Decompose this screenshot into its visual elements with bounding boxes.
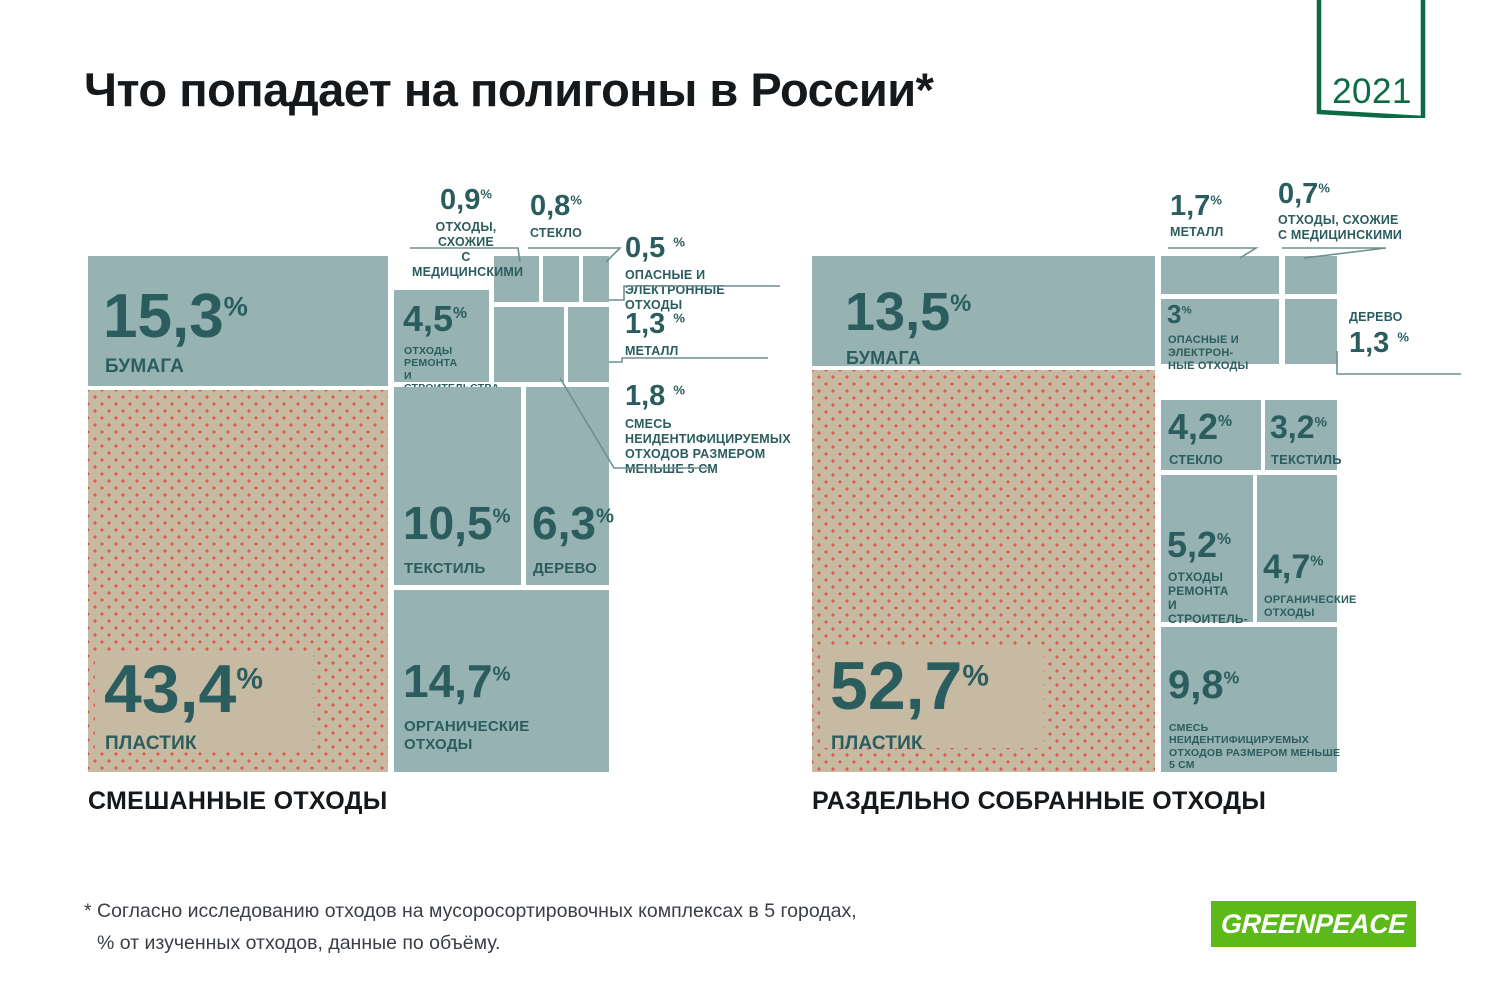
leader-line-metal-2 [1168,238,1268,260]
treemap-value-construction-2: 5,2% [1167,528,1231,561]
callout-glass: 0,8% СТЕКЛО [530,192,582,241]
callout-value-metal-2: 1,7% [1170,192,1224,221]
treemap-value-plastic-2: 52,7% [830,655,989,718]
treemap-value-paper-2: 13,5% [845,288,971,338]
treemap-value-paper: 15,3% [103,288,248,345]
treemap-value-small-mix-2: 9,8% [1168,667,1239,704]
treemap-value-textile-2: 3,2% [1270,413,1327,442]
treemap-label-glass-2: СТЕКЛО [1169,452,1223,467]
treemap-value-organic: 14,7% [403,660,511,702]
treemap-block-wood-2[interactable] [1285,299,1337,364]
callout-value-medical-like-2: 0,7% [1278,180,1402,209]
leader-line-medical-like-2 [1282,238,1392,260]
treemap-label-textile: ТЕКСТИЛЬ [404,560,485,578]
greenpeace-logo[interactable]: GREENPEACE [1211,901,1416,947]
treemap-block-small-mix[interactable] [494,307,564,382]
treemap-value-organic-2: 4,7% [1263,552,1324,583]
treemap-value-construction: 4,5% [403,302,467,335]
greenpeace-logo-text: GREENPEACE [1210,901,1417,947]
callout-metal-2: 1,7% МЕТАЛЛ [1170,192,1224,240]
treemap-label-hazardous-2: ОПАСНЫЕ И ЭЛЕКТРОН- НЫЕ ОТХОДЫ [1168,334,1283,373]
treemap-block-textile[interactable] [394,387,521,585]
footnote-line-1: * Согласно исследованию отходов на мусор… [84,900,857,922]
callout-label-wood-2: ДЕРЕВО [1349,310,1409,325]
page-title: Что попадает на полигоны в России* [84,62,933,117]
callout-value-medical-like: 0,9% [412,186,520,215]
treemap-label-organic: ОРГАНИЧЕСКИЕ ОТХОДЫ [404,718,604,753]
year-label: 2021 [1326,72,1418,112]
treemap-value-plastic: 43,4% [104,658,263,721]
callout-value-hazardous: 0,5 % [625,234,795,263]
treemap-block-metal-2[interactable] [1161,256,1279,294]
leader-line-glass [528,238,628,264]
leader-line-metal [608,344,778,366]
treemap-value-textile: 10,5% [403,502,511,544]
treemap-value-glass-2: 4,2% [1168,410,1232,443]
treemap-block-metal[interactable] [568,307,609,382]
callout-value-glass: 0,8% [530,192,582,221]
treemap-label-plastic: ПЛАСТИК [105,733,197,755]
footnote-line-2: % от изученных отходов, данные по объёму… [84,928,984,960]
treemap-label-textile-2: ТЕКСТИЛЬ [1271,452,1342,467]
treemap-label-paper-2: БУМАГА [846,348,921,369]
footnote: * Согласно исследованию отходов на мусор… [84,896,984,959]
chart-caption-mixed: СМЕШАННЫЕ ОТХОДЫ [88,787,388,816]
leader-line-wood-2 [1336,350,1466,378]
treemap-label-small-mix-2: СМЕСЬ НЕИДЕНТИФИЦИРУЕМЫХ ОТХОДОВ РАЗМЕРО… [1169,722,1341,772]
callout-value-metal: 1,3 % [625,310,685,339]
treemap-value-wood: 6,3% [532,502,614,544]
leader-line-hazardous [608,284,788,306]
leader-line-medical-like [410,238,530,264]
treemap-label-paper: БУМАГА [105,356,184,378]
infographic-root: Что попадает на полигоны в России* 2021 … [0,0,1500,1000]
callout-medical-like-2: 0,7% ОТХОДЫ, СХОЖИЕ С МЕДИЦИНСКИМИ [1278,180,1402,243]
chart-caption-separate: РАЗДЕЛЬНО СОБРАННЫЕ ОТХОДЫ [812,787,1266,816]
treemap-label-organic-2: ОРГАНИЧЕСКИЕ ОТХОДЫ [1264,594,1342,620]
treemap-block-medical-like-2[interactable] [1285,256,1337,294]
leader-line-small-mix [558,376,718,476]
treemap-label-wood: ДЕРЕВО [533,560,597,578]
treemap-label-plastic-2: ПЛАСТИК [831,733,923,755]
callout-medical-like: 0,9% ОТХОДЫ, СХОЖИЕ С МЕДИЦИНСКИМИ [412,186,520,280]
treemap-value-hazardous-2: 3% [1167,303,1192,327]
